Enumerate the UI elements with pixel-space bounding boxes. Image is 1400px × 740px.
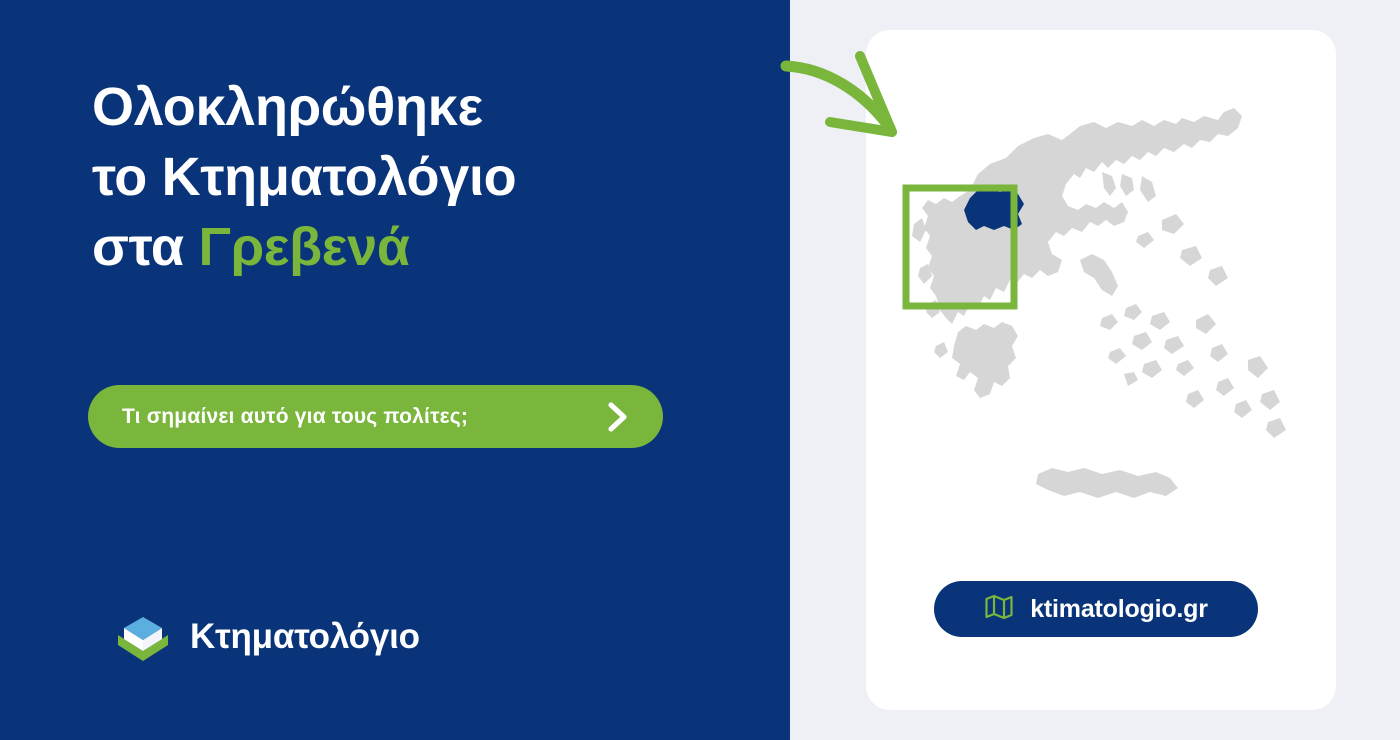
page-title: Ολοκληρώθηκε το Κτηματολόγιο στα Γρεβενά (92, 72, 732, 283)
greece-map-icon (866, 64, 1336, 524)
cta-button-label: Τι σημαίνει αυτό για τους πολίτες; (122, 405, 468, 429)
website-url-badge[interactable]: ktimatologio.gr (934, 581, 1258, 637)
promo-banner: Ολοκληρώθηκε το Κτηματολόγιο στα Γρεβενά… (0, 0, 1400, 740)
map-card: ktimatologio.gr (866, 30, 1336, 710)
website-url-label: ktimatologio.gr (1030, 595, 1208, 624)
chevron-right-icon (605, 401, 631, 433)
folded-map-icon (984, 592, 1014, 627)
brand-logo[interactable]: Κτηματολόγιο (114, 608, 420, 666)
ktimatologio-cube-logo-icon (114, 608, 172, 666)
headline-line-1: Ολοκληρώθηκε (92, 72, 732, 142)
headline-line-3-prefix: στα (92, 217, 199, 277)
cta-citizens-button[interactable]: Τι σημαίνει αυτό για τους πολίτες; (88, 385, 663, 448)
headline-accent-region: Γρεβενά (199, 217, 410, 277)
right-visual-panel: ktimatologio.gr (790, 0, 1400, 740)
brand-logo-label: Κτηματολόγιο (190, 617, 420, 657)
headline-line-2: το Κτηματολόγιο (92, 142, 732, 212)
left-content-panel: Ολοκληρώθηκε το Κτηματολόγιο στα Γρεβενά… (0, 0, 790, 740)
headline-line-3: στα Γρεβενά (92, 212, 732, 282)
